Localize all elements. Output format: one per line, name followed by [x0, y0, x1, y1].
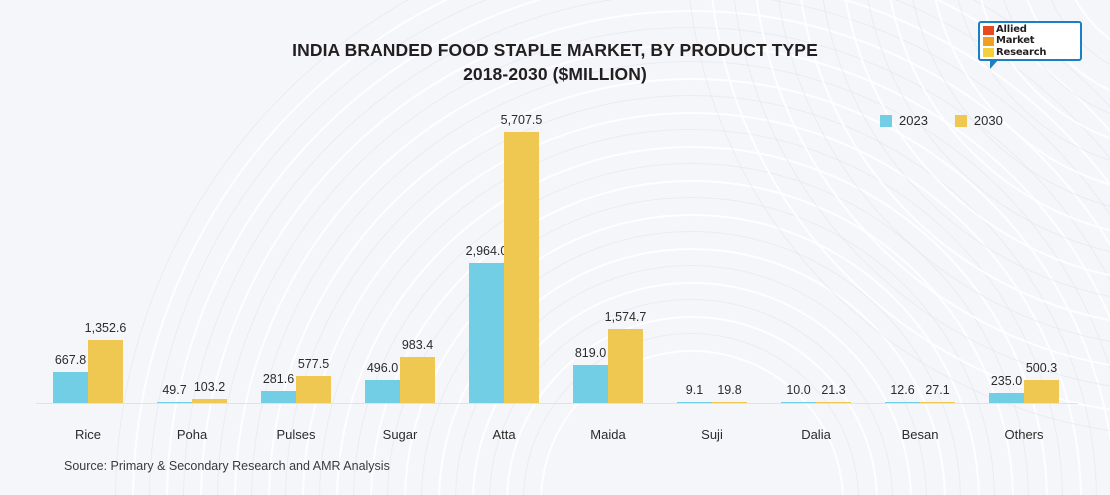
bar-group: 281.6577.5 — [261, 108, 331, 404]
bar-atta-2030[interactable]: 5,707.5 — [504, 132, 539, 404]
bar-group: 10.021.3 — [781, 108, 851, 404]
bar-group: 49.7103.2 — [157, 108, 227, 404]
bar-value-label: 496.0 — [367, 361, 398, 375]
chart-title-line1: INDIA BRANDED FOOD STAPLE MARKET, BY PRO… — [165, 38, 945, 62]
bar-sugar-2023[interactable]: 496.0 — [365, 380, 400, 404]
bar-rect — [573, 365, 608, 404]
bar-value-label: 10.0 — [786, 383, 810, 397]
bar-rice-2030[interactable]: 1,352.6 — [88, 340, 123, 404]
logo-text-market: Market — [996, 36, 1034, 46]
bar-rect — [365, 380, 400, 404]
bar-value-label: 983.4 — [402, 338, 433, 352]
bar-maida-2030[interactable]: 1,574.7 — [608, 329, 643, 404]
bar-others-2030[interactable]: 500.3 — [1024, 380, 1059, 404]
bar-sugar-2030[interactable]: 983.4 — [400, 357, 435, 404]
bar-value-label: 49.7 — [162, 383, 186, 397]
bar-value-label: 5,707.5 — [501, 113, 543, 127]
x-axis-label-sugar: Sugar — [383, 427, 418, 442]
source-note: Source: Primary & Secondary Research and… — [64, 459, 390, 473]
bar-rect — [469, 263, 504, 404]
logo-square-red-icon — [983, 26, 994, 35]
x-axis-label-dalia: Dalia — [801, 427, 831, 442]
x-axis-label-poha: Poha — [177, 427, 207, 442]
bar-rect — [504, 132, 539, 404]
logo-row-market: Market — [983, 36, 1077, 47]
bar-value-label: 9.1 — [686, 383, 703, 397]
bar-group: 12.627.1 — [885, 108, 955, 404]
bar-pulses-2030[interactable]: 577.5 — [296, 376, 331, 404]
bar-value-label: 103.2 — [194, 380, 225, 394]
logo-text-research: Research — [996, 48, 1046, 58]
allied-market-research-logo[interactable]: Allied Market Research — [978, 21, 1082, 69]
logo-text-allied: Allied — [996, 25, 1027, 35]
bar-rect — [400, 357, 435, 404]
bar-group: 2,964.05,707.5 — [469, 108, 539, 404]
bar-value-label: 235.0 — [991, 374, 1022, 388]
bar-rect — [261, 391, 296, 404]
x-axis-line — [36, 403, 1078, 404]
bar-value-label: 577.5 — [298, 357, 329, 371]
bar-value-label: 500.3 — [1026, 361, 1057, 375]
logo-row-allied: Allied — [983, 25, 1077, 36]
bar-rect — [88, 340, 123, 404]
bar-group: 9.119.8 — [677, 108, 747, 404]
bar-value-label: 2,964.0 — [466, 244, 508, 258]
bar-value-label: 1,574.7 — [605, 310, 647, 324]
bar-value-label: 12.6 — [890, 383, 914, 397]
bar-rect — [1024, 380, 1059, 404]
bar-value-label: 1,352.6 — [85, 321, 127, 335]
logo-rows: Allied Market Research — [983, 25, 1077, 59]
bar-atta-2023[interactable]: 2,964.0 — [469, 263, 504, 404]
logo-square-yellow-icon — [983, 48, 994, 57]
bar-maida-2023[interactable]: 819.0 — [573, 365, 608, 404]
bar-rect — [608, 329, 643, 404]
chart-title-line2: 2018-2030 ($MILLION) — [165, 62, 945, 86]
x-axis-label-suji: Suji — [701, 427, 723, 442]
bar-value-label: 819.0 — [575, 346, 606, 360]
bar-rice-2023[interactable]: 667.8 — [53, 372, 88, 404]
x-axis-label-pulses: Pulses — [276, 427, 315, 442]
x-axis-label-maida: Maida — [590, 427, 625, 442]
bar-value-label: 19.8 — [717, 383, 741, 397]
bar-value-label: 667.8 — [55, 353, 86, 367]
bar-group: 496.0983.4 — [365, 108, 435, 404]
logo-row-research: Research — [983, 47, 1077, 58]
bar-rect — [53, 372, 88, 404]
chart-plot-area: 667.81,352.649.7103.2281.6577.5496.0983.… — [36, 108, 1076, 404]
bar-rect — [296, 376, 331, 404]
x-axis-label-rice: Rice — [75, 427, 101, 442]
bar-value-label: 21.3 — [821, 383, 845, 397]
x-axis-label-atta: Atta — [492, 427, 515, 442]
bar-group: 235.0500.3 — [989, 108, 1059, 404]
logo-square-orange-icon — [983, 37, 994, 46]
chart-title: INDIA BRANDED FOOD STAPLE MARKET, BY PRO… — [165, 38, 945, 86]
bar-group: 819.01,574.7 — [573, 108, 643, 404]
bar-group: 667.81,352.6 — [53, 108, 123, 404]
x-axis-label-besan: Besan — [902, 427, 939, 442]
chart-page: Allied Market Research INDIA BRANDED FOO… — [0, 0, 1110, 495]
x-axis-label-others: Others — [1004, 427, 1043, 442]
bar-value-label: 27.1 — [925, 383, 949, 397]
bar-pulses-2023[interactable]: 281.6 — [261, 391, 296, 404]
bar-value-label: 281.6 — [263, 372, 294, 386]
